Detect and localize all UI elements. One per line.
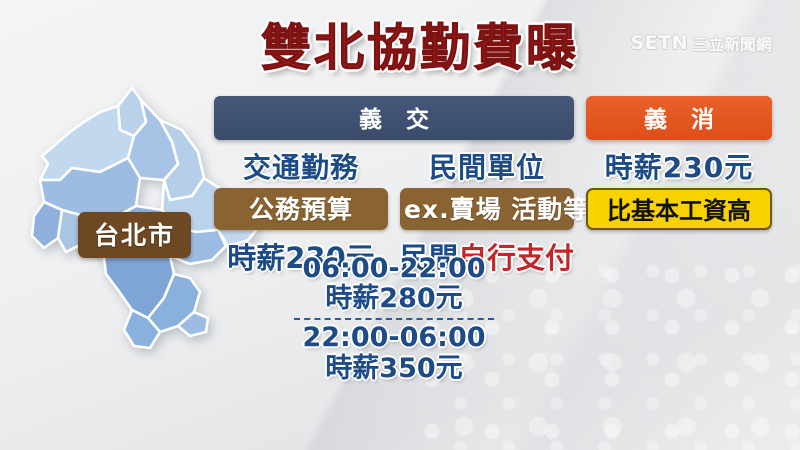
info-panel: 義 交 義 消 交通勤務 公務預算 時薪230元 民間單位 ex.賣場 活動等 … (214, 96, 784, 277)
category-bar-fire: 義 消 (586, 96, 772, 140)
map-region-label: 台北市 (78, 212, 191, 258)
column-badge: ex.賣場 活動等 (400, 188, 574, 230)
category-bar-row: 義 交 義 消 (214, 96, 784, 140)
time-range: 06:00-22:00 (214, 254, 574, 284)
time-rate-block: 06:00-22:00 時薪280元 22:00-06:00 時薪350元 (214, 254, 574, 384)
column-badge: 公務預算 (214, 188, 388, 230)
broadcast-graphic-stage: SETN 三立新聞網 雙北協勤費曝 (0, 0, 800, 450)
column-heading: 時薪230元 (586, 146, 772, 186)
category-bar-traffic: 義 交 (214, 96, 574, 140)
time-rate: 時薪350元 (214, 354, 574, 384)
time-rate: 時薪280元 (214, 284, 574, 314)
dashed-divider (294, 318, 494, 320)
column-fire-volunteer: 時薪230元 比基本工資高 (586, 146, 772, 277)
time-range: 22:00-06:00 (214, 323, 574, 353)
column-heading: 交通勤務 (214, 146, 388, 186)
column-heading: 民間單位 (400, 146, 574, 186)
column-badge: 比基本工資高 (586, 188, 772, 230)
